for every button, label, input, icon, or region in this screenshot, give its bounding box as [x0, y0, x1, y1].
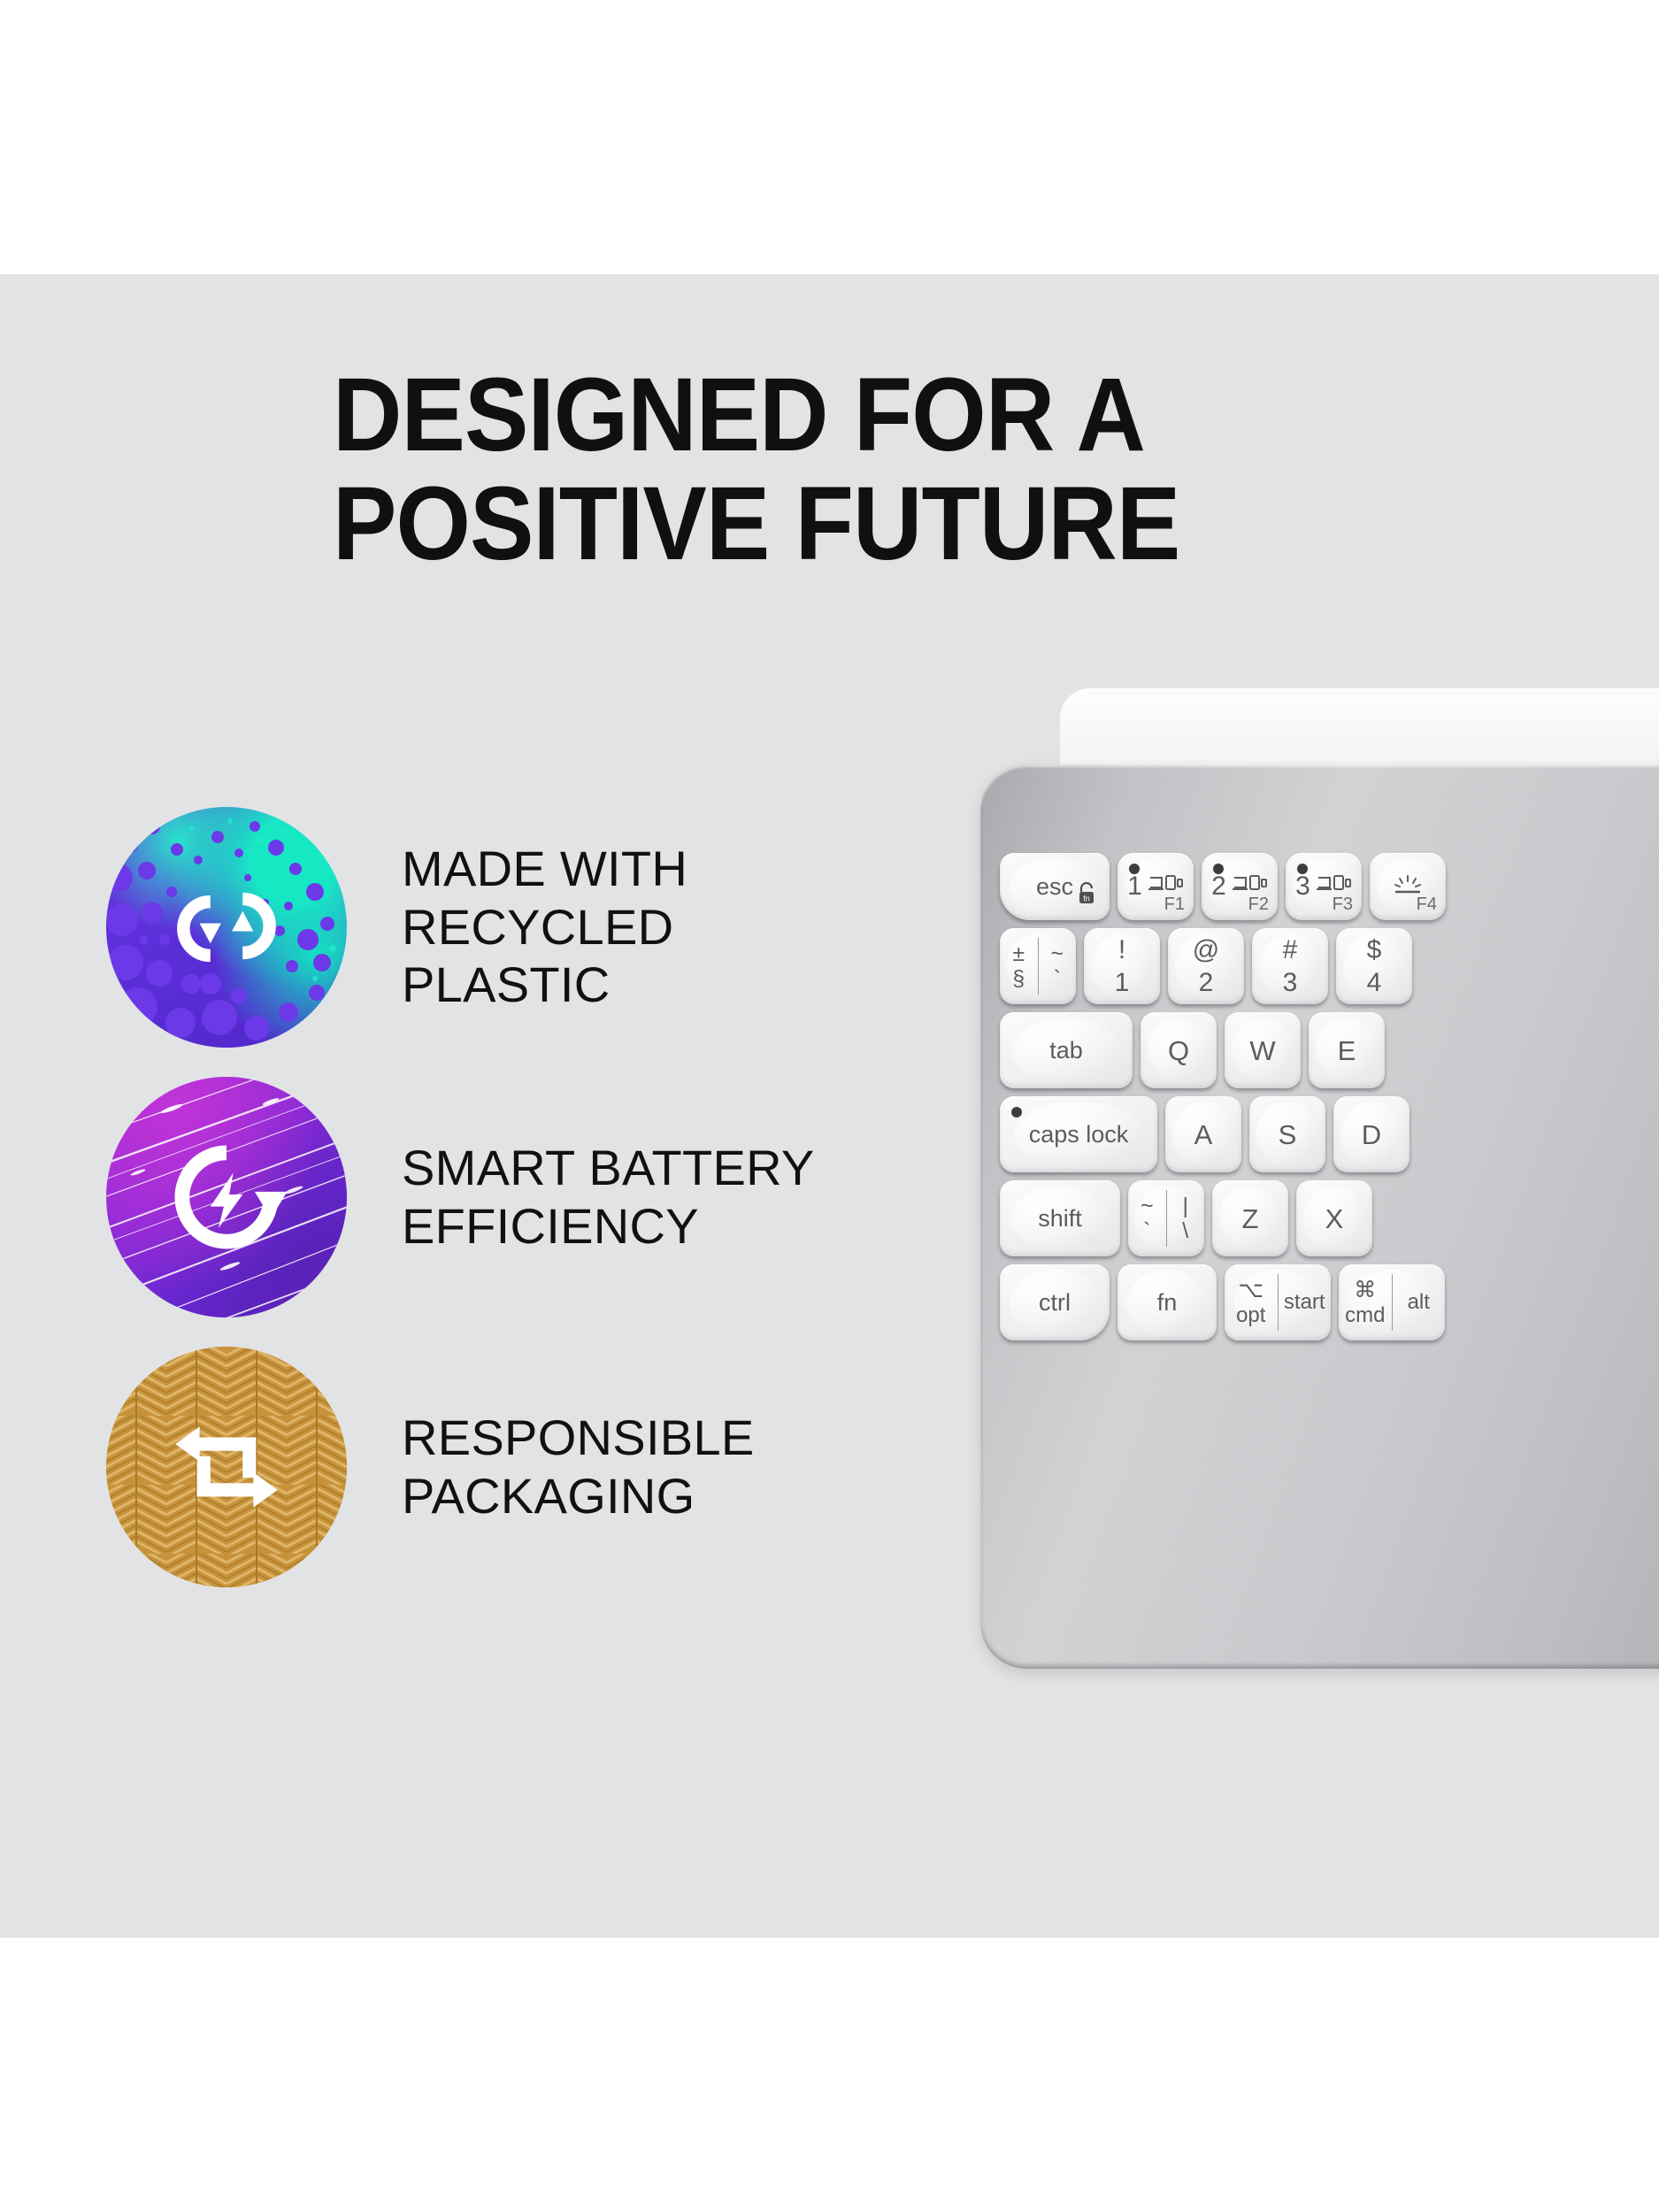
key-ctrl-label: ctrl — [1039, 1291, 1071, 1315]
key-z-label: Z — [1242, 1205, 1259, 1233]
key-section-right-top: ~ — [1050, 942, 1064, 965]
key-caps-lock[interactable]: caps lock — [1000, 1096, 1157, 1172]
key-digit-1-shift: ! — [1118, 936, 1125, 964]
key-a-label: A — [1194, 1121, 1213, 1148]
packaging-recycle-square-icon — [159, 1400, 294, 1534]
key-digit-4[interactable]: $ 4 — [1336, 928, 1412, 1004]
content-panel: DESIGNED FOR A POSITIVE FUTURE — [0, 274, 1659, 1938]
key-shift[interactable]: shift — [1000, 1180, 1120, 1256]
key-digit-2-shift: @ — [1193, 936, 1219, 964]
key-esc-label: esc — [1036, 875, 1073, 899]
feature-item-responsible-packaging: RESPONSIBLE PACKAGING — [106, 1332, 885, 1601]
key-q-label: Q — [1168, 1037, 1189, 1064]
key-row-numbers: ± § ~ ` ! 1 — [1000, 928, 1659, 1004]
recycle-loop-icon — [159, 860, 294, 995]
feature-label-recycled-plastic: MADE WITH RECYCLED PLASTIC — [402, 840, 885, 1014]
led-indicator — [1129, 864, 1140, 874]
key-digit-1-label: 1 — [1115, 969, 1130, 997]
key-s-label: S — [1279, 1121, 1297, 1148]
feature-list: MADE WITH RECYCLED PLASTIC — [106, 792, 885, 1601]
option-symbol-icon: ⌥ — [1238, 1279, 1263, 1302]
key-x-label: X — [1325, 1205, 1344, 1233]
key-option-start[interactable]: ⌥ opt start — [1225, 1264, 1331, 1340]
key-z[interactable]: Z — [1212, 1180, 1288, 1256]
key-section-left-top: ± — [1012, 942, 1025, 965]
key-digit-4-shift: $ — [1367, 936, 1382, 964]
key-f2-legend: F2 — [1248, 895, 1269, 915]
key-alt-label: alt — [1408, 1291, 1430, 1313]
key-row-qwerty: tab Q W E — [1000, 1012, 1659, 1088]
key-tab-label: tab — [1049, 1039, 1083, 1063]
fn-lock-icon: fn — [1076, 880, 1097, 912]
key-tab[interactable]: tab — [1000, 1012, 1133, 1088]
key-e-label: E — [1338, 1037, 1356, 1064]
keyboard-body: esc fn 1 — [980, 764, 1659, 1669]
key-esc[interactable]: esc fn — [1000, 853, 1110, 920]
svg-text:fn: fn — [1083, 895, 1090, 903]
battery-refresh-bolt-icon — [159, 1130, 294, 1264]
feature-label-battery-efficiency: SMART BATTERY EFFICIENCY — [402, 1139, 815, 1255]
key-backlight[interactable]: F4 — [1370, 853, 1446, 920]
key-backslash[interactable]: ~ ` | \ — [1128, 1180, 1204, 1256]
key-a[interactable]: A — [1165, 1096, 1241, 1172]
key-command-alt[interactable]: ⌘ cmd alt — [1339, 1264, 1445, 1340]
key-d[interactable]: D — [1333, 1096, 1409, 1172]
key-e[interactable]: E — [1309, 1012, 1385, 1088]
key-row-function: esc fn 1 — [1000, 853, 1659, 920]
key-rows: esc fn 1 — [1000, 853, 1659, 1348]
key-fn-label: fn — [1157, 1291, 1178, 1315]
key-s[interactable]: S — [1249, 1096, 1325, 1172]
command-symbol-icon: ⌘ — [1354, 1279, 1376, 1302]
key-backslash-left-top: ~ — [1141, 1194, 1154, 1217]
key-f1-legend: F1 — [1164, 895, 1185, 915]
key-easy-switch-2[interactable]: 2 F2 — [1202, 853, 1278, 920]
led-indicator — [1213, 864, 1224, 874]
recycled-plastic-badge — [106, 807, 347, 1048]
led-indicator — [1011, 1107, 1022, 1118]
key-w[interactable]: W — [1225, 1012, 1301, 1088]
key-section-left-bottom: § — [1012, 967, 1025, 990]
key-q[interactable]: Q — [1141, 1012, 1217, 1088]
key-command-label: cmd — [1345, 1304, 1385, 1326]
battery-efficiency-badge — [106, 1077, 347, 1317]
key-start-label: start — [1284, 1291, 1325, 1313]
key-section[interactable]: ± § ~ ` — [1000, 928, 1076, 1004]
feature-item-battery-efficiency: SMART BATTERY EFFICIENCY — [106, 1062, 885, 1332]
page-title: DESIGNED FOR A POSITIVE FUTURE — [333, 361, 1334, 578]
key-easy-switch-3[interactable]: 3 F3 — [1286, 853, 1362, 920]
key-backslash-left-bottom: ` — [1143, 1219, 1150, 1242]
key-easy-switch-1-label: 1 — [1127, 872, 1142, 902]
key-caps-lock-label: caps lock — [1029, 1123, 1129, 1147]
key-row-home: caps lock A S D — [1000, 1096, 1659, 1172]
key-x[interactable]: X — [1296, 1180, 1372, 1256]
led-indicator — [1297, 864, 1308, 874]
key-digit-2-label: 2 — [1199, 969, 1214, 997]
key-digit-2[interactable]: @ 2 — [1168, 928, 1244, 1004]
key-shift-label: shift — [1038, 1207, 1082, 1231]
key-option-label: opt — [1236, 1304, 1265, 1326]
key-section-right-bottom: ` — [1054, 967, 1061, 990]
feature-label-responsible-packaging: RESPONSIBLE PACKAGING — [402, 1409, 755, 1525]
key-digit-4-label: 4 — [1367, 969, 1382, 997]
key-f3-legend: F3 — [1333, 895, 1353, 915]
key-f4-legend: F4 — [1417, 895, 1437, 915]
key-ctrl[interactable]: ctrl — [1000, 1264, 1110, 1340]
key-digit-3-label: 3 — [1283, 969, 1298, 997]
key-digit-3-shift: # — [1283, 936, 1298, 964]
key-digit-1[interactable]: ! 1 — [1084, 928, 1160, 1004]
key-w-label: W — [1249, 1037, 1275, 1064]
key-fn[interactable]: fn — [1118, 1264, 1217, 1340]
key-easy-switch-2-label: 2 — [1211, 872, 1226, 902]
key-easy-switch-1[interactable]: 1 F1 — [1118, 853, 1194, 920]
responsible-packaging-badge — [106, 1347, 347, 1587]
key-row-shift: shift ~ ` | \ — [1000, 1180, 1659, 1256]
feature-item-recycled-plastic: MADE WITH RECYCLED PLASTIC — [106, 792, 885, 1062]
key-backslash-right-bottom: \ — [1182, 1219, 1188, 1242]
key-d-label: D — [1362, 1121, 1381, 1148]
key-backslash-right-top: | — [1183, 1194, 1189, 1217]
key-digit-3[interactable]: # 3 — [1252, 928, 1328, 1004]
keyboard-product-image: esc fn 1 — [980, 688, 1659, 1671]
key-row-modifiers: ctrl fn ⌥ opt start — [1000, 1264, 1659, 1340]
key-easy-switch-3-label: 3 — [1295, 872, 1310, 902]
